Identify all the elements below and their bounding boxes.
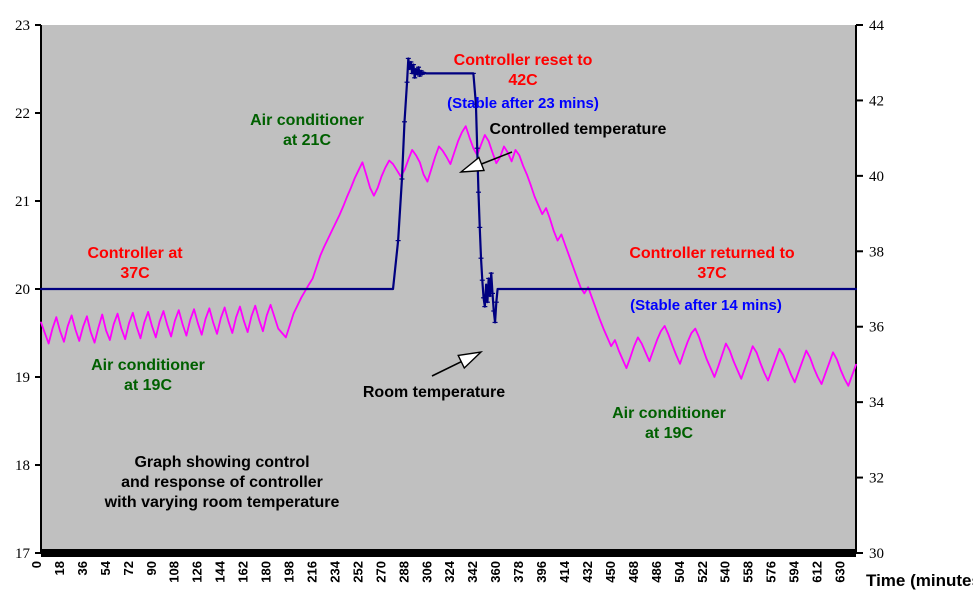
annotation-line: Air conditioner [91,357,205,374]
x-tick-label: 72 [121,561,136,575]
temperature-control-chart: 17181920212223 3032343638404244 01836547… [0,0,973,600]
annotation-line: Graph showing control [134,454,309,471]
x-tick-label: 270 [373,561,388,583]
x-tick-label: 576 [764,561,779,583]
x-tick-label: 594 [787,560,802,582]
x-tick-label: 486 [649,561,664,583]
x-tick-label: 342 [465,561,480,583]
x-tick-label: 612 [810,561,825,583]
x-tick-label: 396 [534,561,549,583]
y-tick-label-right: 44 [869,18,885,34]
annotation-line: at 19C [124,377,172,394]
y-tick-label-left: 20 [15,282,30,298]
x-tick-label: 504 [672,560,687,582]
y-tick-label-left: 21 [15,194,30,210]
annotation-controlled-temperature: Controlled temperature [490,121,667,138]
x-tick-label: 18 [52,561,67,575]
annotation-line: Controlled temperature [490,121,667,138]
x-tick-label: 0 [29,561,44,568]
annotation-line: and response of controller [121,474,323,491]
annotation-stable-after-14-mins: (Stable after 14 mins) [630,297,782,314]
x-tick-label: 108 [167,561,182,583]
x-tick-label: 54 [98,560,113,575]
y-tick-label-right: 36 [869,320,885,336]
y-tick-label-left: 23 [15,18,30,34]
x-tick-label: 198 [282,561,297,583]
annotation-line: 37C [120,265,150,282]
y-tick-label-right: 38 [869,244,884,260]
x-axis-line [41,549,856,557]
annotation-line: (Stable after 14 mins) [630,297,782,314]
annotation-line: at 19C [645,425,693,442]
x-tick-label: 126 [190,561,205,583]
x-tick-label: 216 [305,561,320,583]
x-tick-label: 90 [144,561,159,575]
annotation-line: 37C [697,265,727,282]
y-tick-label-left: 22 [15,106,30,122]
y-tick-label-right: 30 [869,546,884,562]
x-axis-title-label: Time (minutes) [866,571,973,590]
annotation-line: Controller returned to [629,245,795,262]
x-tick-label: 234 [328,560,343,582]
x-tick-label: 432 [580,561,595,583]
x-tick-label: 36 [75,561,90,575]
annotation-line: at 21C [283,132,331,149]
annotation-line: 42C [508,72,538,89]
y-tick-label-left: 19 [15,370,30,386]
annotation-line: (Stable after 23 mins) [447,95,599,112]
x-tick-label: 162 [236,561,251,583]
x-tick-label: 558 [741,561,756,583]
x-tick-label: 144 [213,560,228,582]
annotation-line: Room temperature [363,384,505,401]
x-axis-title: Time (minutes) [866,571,973,590]
y-tick-label-right: 42 [869,93,884,109]
chart-screenshot: 17181920212223 3032343638404244 01836547… [0,0,973,600]
x-tick-label: 630 [833,561,848,583]
x-tick-label: 252 [350,561,365,583]
y-tick-label-right: 34 [869,395,885,411]
x-tick-label: 306 [419,561,434,583]
x-tick-label: 414 [557,560,572,582]
annotation-line: with varying room temperature [104,494,340,511]
x-tick-label: 540 [718,561,733,583]
y-tick-label-left: 18 [15,458,30,474]
x-tick-label: 288 [396,561,411,583]
x-tick-label: 360 [488,561,503,583]
annotation-line: Air conditioner [612,405,726,422]
y-tick-label-right: 32 [869,471,884,487]
annotation-line: Controller at [87,245,183,262]
annotation-stable-after-23-mins: (Stable after 23 mins) [447,95,599,112]
x-tick-label: 522 [695,561,710,583]
x-tick-label: 180 [259,561,274,583]
annotation-line: Controller reset to [454,52,593,69]
y-tick-label-right: 40 [869,169,884,185]
annotation-caption: Graph showing controland response of con… [104,454,340,511]
annotation-line: Air conditioner [250,112,364,129]
x-tick-label: 450 [603,561,618,583]
x-tick-label: 378 [511,561,526,583]
x-tick-label: 324 [442,560,457,582]
annotation-room-temperature: Room temperature [363,384,505,401]
y-tick-label-left: 17 [15,546,31,562]
x-tick-label: 468 [626,561,641,583]
